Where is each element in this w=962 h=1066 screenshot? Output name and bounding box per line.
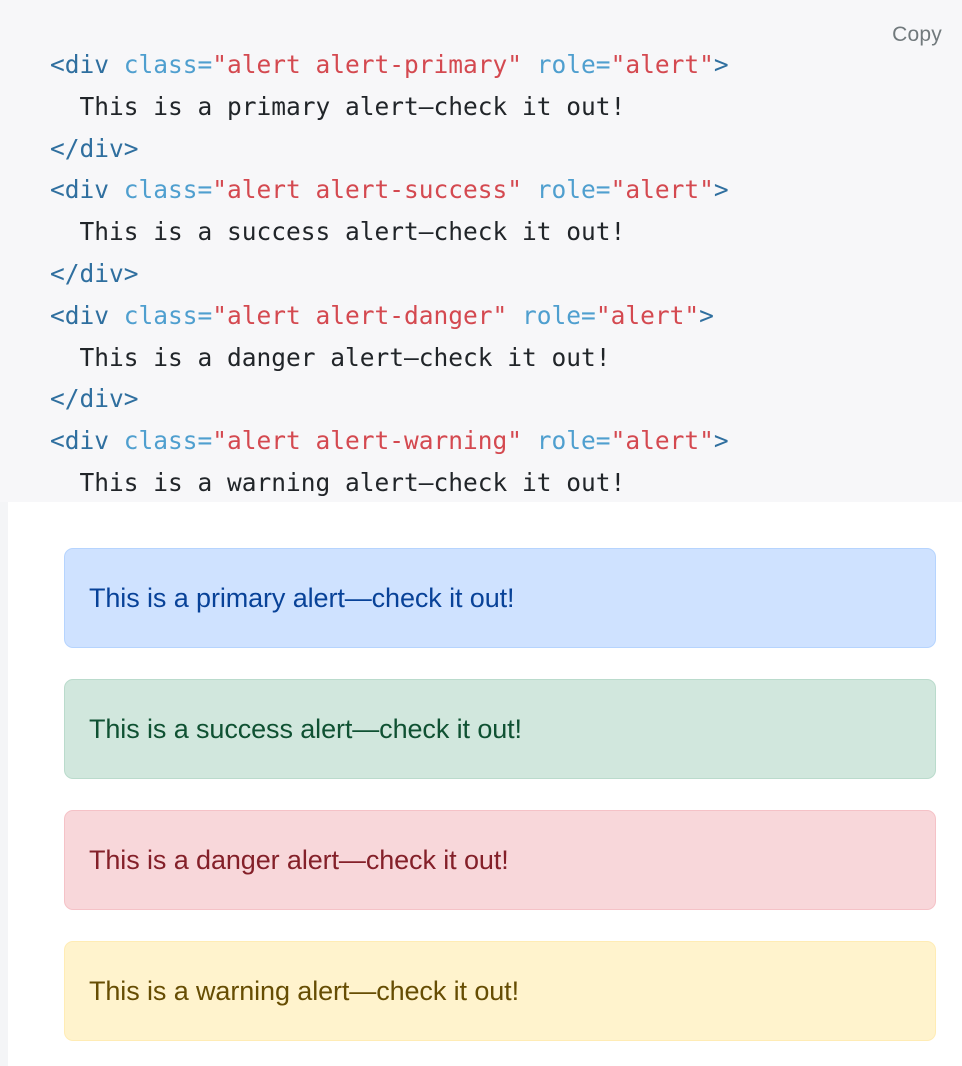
alert-primary-text: This is a primary alert—check it out! [89,578,514,619]
code-token-attr: class= [124,175,213,204]
code-token-str: "alert alert-warning" [212,426,537,455]
code-token-tag: > [714,426,729,455]
alert-examples-area: This is a primary alert—check it out! Th… [8,502,962,1066]
code-token-str: "alert" [611,426,714,455]
code-example-block: Copy <div class="alert alert-primary" ro… [0,0,962,502]
code-token-attr: role= [522,301,596,330]
code-token-str: "alert alert-success" [212,175,537,204]
alert-success: This is a success alert—check it out! [64,679,936,779]
code-token-tag: <div [50,175,124,204]
code-token-attr: role= [537,175,611,204]
code-token-str: "alert alert-danger" [212,301,522,330]
code-token-tag: <div [50,50,124,79]
content-card: Copy <div class="alert alert-primary" ro… [8,0,962,1066]
code-token-tag: </div> [50,384,139,413]
alert-warning: This is a warning alert—check it out! [64,941,936,1041]
code-token-tag: <div [50,426,124,455]
code-token-attr: class= [124,301,213,330]
alert-warning-text: This is a warning alert—check it out! [89,971,519,1012]
code-token-text: This is a warning alert—check it out! [50,468,625,497]
code-token-attr: role= [537,50,611,79]
code-token-text: This is a primary alert—check it out! [50,92,625,121]
code-token-attr: class= [124,50,213,79]
code-token-str: "alert" [611,175,714,204]
alert-danger: This is a danger alert—check it out! [64,810,936,910]
alert-primary: This is a primary alert—check it out! [64,548,936,648]
code-token-tag: > [699,301,714,330]
code-snippet[interactable]: <div class="alert alert-primary" role="a… [0,0,962,502]
code-token-attr: role= [537,426,611,455]
code-token-tag: <div [50,301,124,330]
code-token-tag: > [714,50,729,79]
code-token-str: "alert" [611,50,714,79]
alert-danger-text: This is a danger alert—check it out! [89,840,509,881]
code-token-tag: </div> [50,259,139,288]
code-token-tag: > [714,175,729,204]
copy-button[interactable]: Copy [886,20,948,49]
code-token-text: This is a success alert—check it out! [50,217,625,246]
code-token-str: "alert alert-primary" [212,50,537,79]
page-background: Copy <div class="alert alert-primary" ro… [0,0,962,1066]
code-token-str: "alert" [596,301,699,330]
alert-success-text: This is a success alert—check it out! [89,709,522,750]
code-token-text: This is a danger alert—check it out! [50,343,611,372]
code-token-tag: </div> [50,134,139,163]
code-token-attr: class= [124,426,213,455]
